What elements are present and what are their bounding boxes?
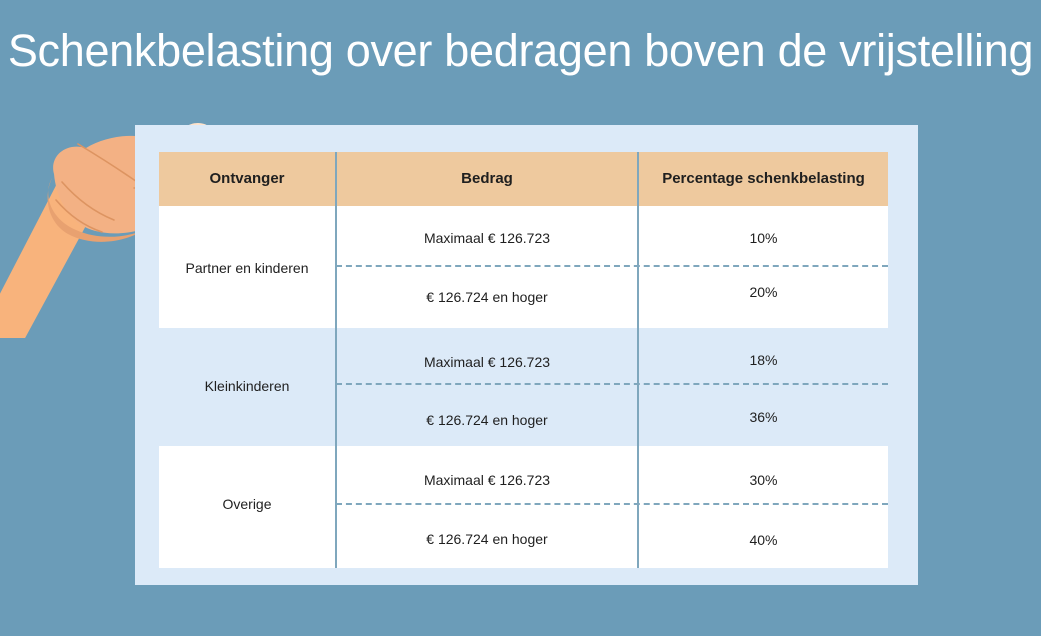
table-cell-amount: Maximaal € 126.723: [337, 230, 637, 246]
bracket-divider: [336, 265, 888, 267]
table-cell-percentage: 30%: [639, 472, 888, 488]
poster-background: Schenkbelasting over bedragen boven de v…: [0, 0, 1041, 636]
table-cell-percentage: 20%: [639, 284, 888, 300]
column-header-ontvanger: Ontvanger: [159, 152, 335, 206]
column-header-bedrag: Bedrag: [337, 152, 637, 206]
table-cell-percentage: 40%: [639, 532, 888, 548]
bracket-divider: [336, 503, 888, 505]
column-header-percentage: Percentage schenkbelasting: [639, 152, 888, 206]
table-cell-amount: Maximaal € 126.723: [337, 354, 637, 370]
schenkbelasting-table: Ontvanger Bedrag Percentage schenkbelast…: [159, 152, 888, 568]
table-cell-percentage: 18%: [639, 352, 888, 368]
table-cell-percentage: 10%: [639, 230, 888, 246]
table-row: Kleinkinderen: [159, 378, 335, 394]
table-cell-percentage: 36%: [639, 409, 888, 425]
bracket-divider: [336, 383, 888, 385]
table-row: Overige: [159, 496, 335, 512]
page-title: Schenkbelasting over bedragen boven de v…: [0, 26, 1041, 76]
table-cell-amount: € 126.724 en hoger: [337, 412, 637, 428]
table-cell-amount: € 126.724 en hoger: [337, 289, 637, 305]
table-cell-amount: € 126.724 en hoger: [337, 531, 637, 547]
table-row: Partner en kinderen: [159, 260, 335, 276]
table-cell-amount: Maximaal € 126.723: [337, 472, 637, 488]
